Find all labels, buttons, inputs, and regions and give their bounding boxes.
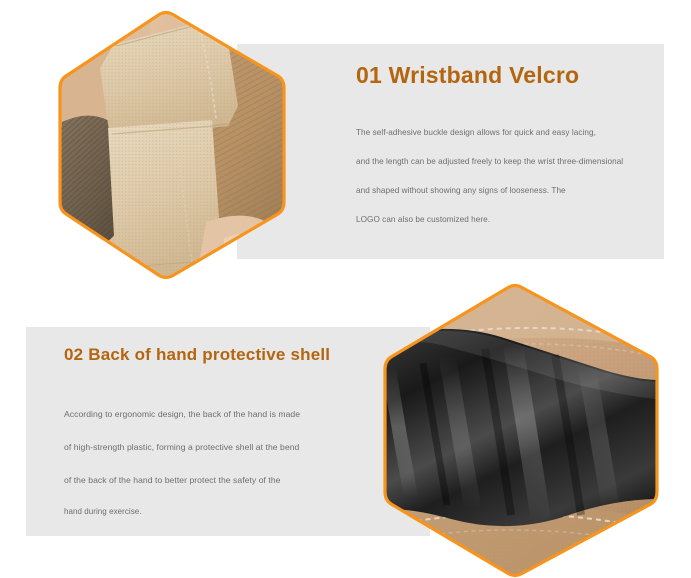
section-02-text: 02 Back of hand protective shell Accordi… [64, 345, 364, 540]
section-02-line: of the back of the hand to better protec… [64, 476, 364, 485]
section-02-line: According to ergonomic design, the back … [64, 410, 364, 419]
section-01-line: LOGO can also be customized here. [356, 216, 646, 224]
section-01-line: The self-adhesive buckle design allows f… [356, 129, 646, 137]
product-feature-page: 01 Wristband Velcro The self-adhesive bu… [0, 0, 691, 574]
section-02-line: of high-strength plastic, forming a prot… [64, 443, 364, 452]
protective-shell-photo [381, 283, 661, 578]
section-01-text: 01 Wristband Velcro The self-adhesive bu… [356, 62, 646, 245]
section-01-line: and the length can be adjusted freely to… [356, 158, 646, 166]
wristband-velcro-photo [56, 10, 288, 280]
section-02-title: 02 Back of hand protective shell [64, 345, 364, 365]
section-01-line: and shaped without showing any signs of … [356, 187, 646, 195]
section-02-description: According to ergonomic design, the back … [64, 410, 364, 516]
section-02-line: hand during exercise. [64, 508, 364, 516]
section-01-hex-image-frame [56, 10, 288, 280]
section-02-hex-image-frame [381, 283, 661, 578]
section-01-description: The self-adhesive buckle design allows f… [356, 129, 646, 225]
section-01-title: 01 Wristband Velcro [356, 62, 646, 90]
